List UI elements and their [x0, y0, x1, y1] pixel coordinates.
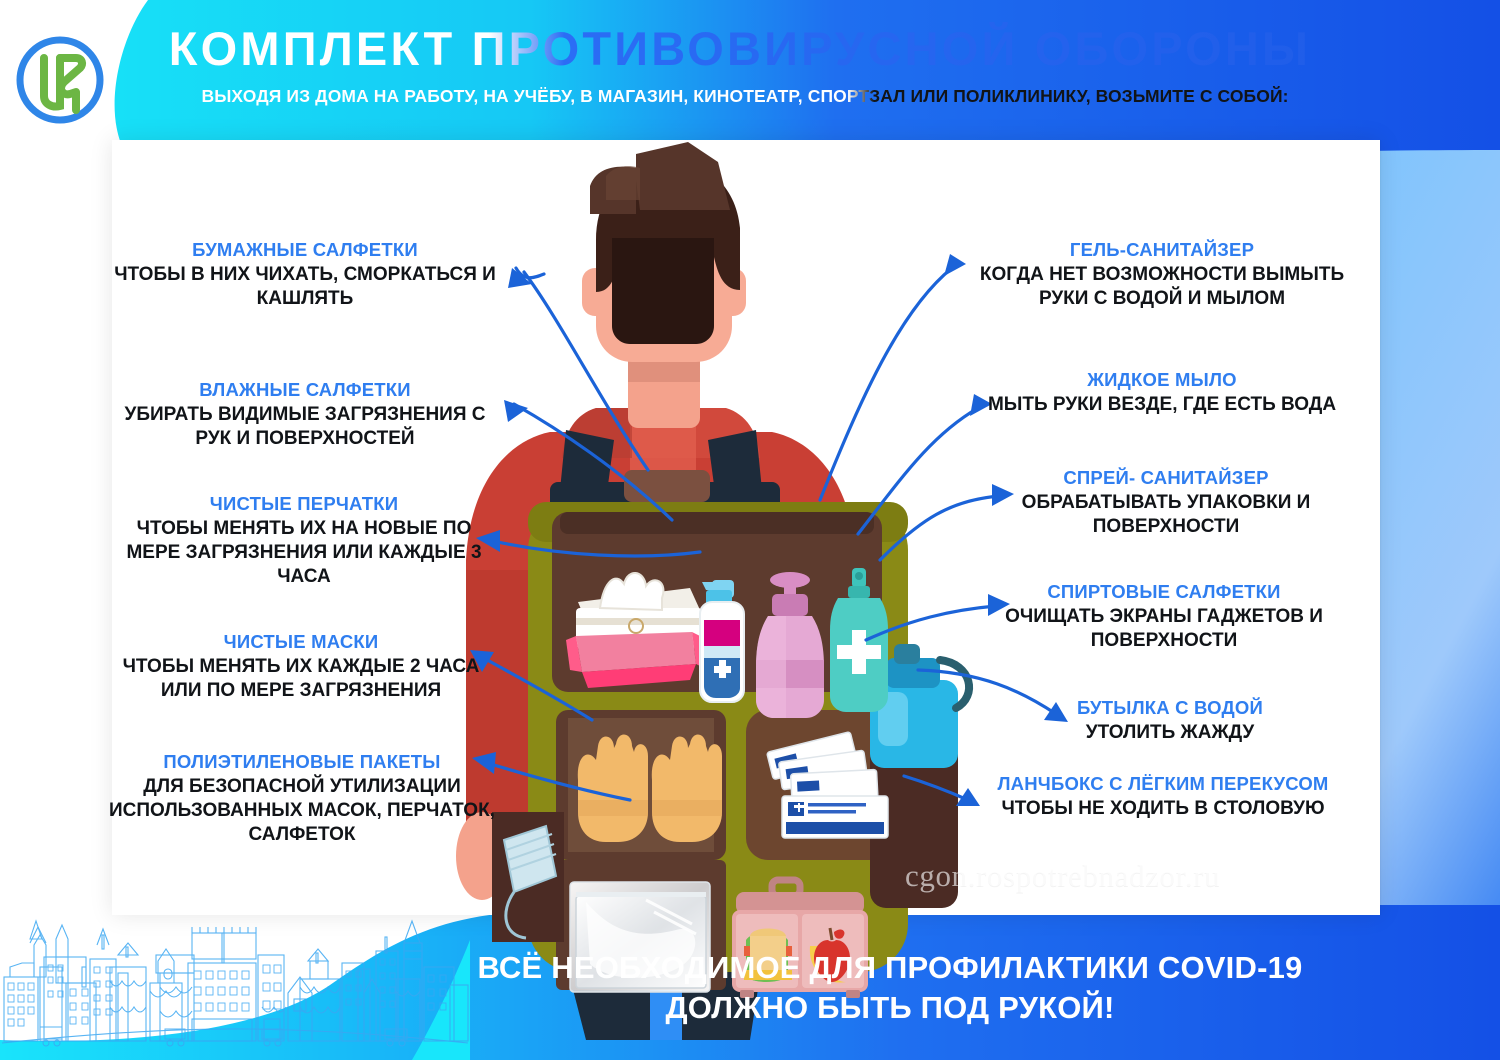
callout-clean-gloves: ЧИСТЫЕ ПЕРЧАТКИ ЧТОБЫ МЕНЯТЬ ИХ НА НОВЫЕ…: [108, 492, 500, 590]
callout-paper-tissues: БУМАЖНЫЕ САЛФЕТКИ ЧТОБЫ В НИХ ЧИХАТЬ, СМ…: [110, 238, 500, 311]
callout-desc: ЧТОБЫ МЕНЯТЬ ИХ КАЖДЫЕ 2 ЧАСА ИЛИ ПО МЕР…: [110, 655, 492, 704]
callout-desc: ЧТОБЫ НЕ ХОДИТЬ В СТОЛОВУЮ: [958, 797, 1368, 821]
callout-title: ВЛАЖНЫЕ САЛФЕТКИ: [110, 378, 500, 402]
poster-header: КОМПЛЕКТ ПРОТИВОВИРУСНОЙ ОБОРОНЫ ВЫХОДЯ …: [0, 0, 1500, 140]
cgon-monogram-logo-icon: [14, 34, 106, 126]
page-title: КОМПЛЕКТ ПРОТИВОВИРУСНОЙ ОБОРОНЫ: [112, 18, 1368, 80]
callout-plastic-bags: ПОЛИЭТИЛЕНОВЫЕ ПАКЕТЫ ДЛЯ БЕЗОПАСНОЙ УТИ…: [108, 750, 496, 848]
callout-desc: ОБРАБАТЫВАТЬ УПАКОВКИ И ПОВЕРХНОСТИ: [968, 491, 1364, 540]
callout-desc: ЧТОБЫ МЕНЯТЬ ИХ НА НОВЫЕ ПО МЕРЕ ЗАГРЯЗН…: [108, 517, 500, 590]
face-mask-icon: [492, 812, 564, 942]
callout-title: ГЕЛЬ-САНИТАЙЗЕР: [962, 238, 1362, 262]
callout-desc: УТОЛИТЬ ЖАЖДУ: [975, 721, 1365, 745]
callout-desc: УБИРАТЬ ВИДИМЫЕ ЗАГРЯЗНЕНИЯ С РУК И ПОВЕ…: [110, 403, 500, 452]
callout-title: ЖИДКОЕ МЫЛО: [962, 368, 1362, 392]
callout-title: ЧИСТЫЕ ПЕРЧАТКИ: [108, 492, 500, 516]
callout-title: ЧИСТЫЕ МАСКИ: [110, 630, 492, 654]
callout-title: СПРЕЙ- САНИТАЙЗЕР: [968, 466, 1364, 490]
callout-spray-sanitizer: СПРЕЙ- САНИТАЙЗЕР ОБРАБАТЫВАТЬ УПАКОВКИ …: [968, 466, 1364, 539]
callout-water-bottle: БУТЫЛКА С ВОДОЙ УТОЛИТЬ ЖАЖДУ: [975, 696, 1365, 745]
callout-desc: ЧТОБЫ В НИХ ЧИХАТЬ, СМОРКАТЬСЯ И КАШЛЯТЬ: [110, 263, 500, 312]
callout-alcohol-wipes: СПИРТОВЫЕ САЛФЕТКИ ОЧИЩАТЬ ЭКРАНЫ ГАДЖЕТ…: [962, 580, 1366, 653]
callout-liquid-soap: ЖИДКОЕ МЫЛО МЫТЬ РУКИ ВЕЗДЕ, ГДЕ ЕСТЬ ВО…: [962, 368, 1362, 417]
callout-title: БУТЫЛКА С ВОДОЙ: [975, 696, 1365, 720]
site-watermark: cgon.rospotrebnadzor.ru: [905, 858, 1220, 894]
callout-desc: КОГДА НЕТ ВОЗМОЖНОСТИ ВЫМЫТЬ РУКИ С ВОДО…: [962, 263, 1362, 312]
footer-line-2: ДОЛЖНО БЫТЬ ПОД РУКОЙ!: [330, 988, 1450, 1028]
callout-title: БУМАЖНЫЕ САЛФЕТКИ: [110, 238, 500, 262]
callout-title: ЛАНЧБОКС С ЛЁГКИМ ПЕРЕКУСОМ: [958, 772, 1368, 796]
callout-title: ПОЛИЭТИЛЕНОВЫЕ ПАКЕТЫ: [108, 750, 496, 774]
callout-desc: ОЧИЩАТЬ ЭКРАНЫ ГАДЖЕТОВ И ПОВЕРХНОСТИ: [962, 605, 1366, 654]
footer-line-1: ВСЁ НЕОБХОДИМОЕ ДЛЯ ПРОФИЛАКТИКИ COVID-1…: [330, 948, 1450, 988]
logo-svg: [14, 34, 106, 126]
callout-desc: ДЛЯ БЕЗОПАСНОЙ УТИЛИЗАЦИИ ИСПОЛЬЗОВАННЫХ…: [108, 775, 496, 848]
callout-lunchbox: ЛАНЧБОКС С ЛЁГКИМ ПЕРЕКУСОМ ЧТОБЫ НЕ ХОД…: [958, 772, 1368, 821]
callout-title: СПИРТОВЫЕ САЛФЕТКИ: [962, 580, 1366, 604]
page-subtitle: ВЫХОДЯ ИЗ ДОМА НА РАБОТУ, НА УЧЁБУ, В МА…: [100, 86, 1390, 107]
callout-desc: МЫТЬ РУКИ ВЕЗДЕ, ГДЕ ЕСТЬ ВОДА: [962, 393, 1362, 417]
callout-gel-sanitizer: ГЕЛЬ-САНИТАЙЗЕР КОГДА НЕТ ВОЗМОЖНОСТИ ВЫ…: [962, 238, 1362, 311]
infographic-poster: КОМПЛЕКТ ПРОТИВОВИРУСНОЙ ОБОРОНЫ ВЫХОДЯ …: [0, 0, 1500, 1060]
callout-wet-wipes: ВЛАЖНЫЕ САЛФЕТКИ УБИРАТЬ ВИДИМЫЕ ЗАГРЯЗН…: [110, 378, 500, 451]
footer-slogan: ВСЁ НЕОБХОДИМОЕ ДЛЯ ПРОФИЛАКТИКИ COVID-1…: [330, 948, 1450, 1027]
callout-clean-masks: ЧИСТЫЕ МАСКИ ЧТОБЫ МЕНЯТЬ ИХ КАЖДЫЕ 2 ЧА…: [110, 630, 492, 703]
